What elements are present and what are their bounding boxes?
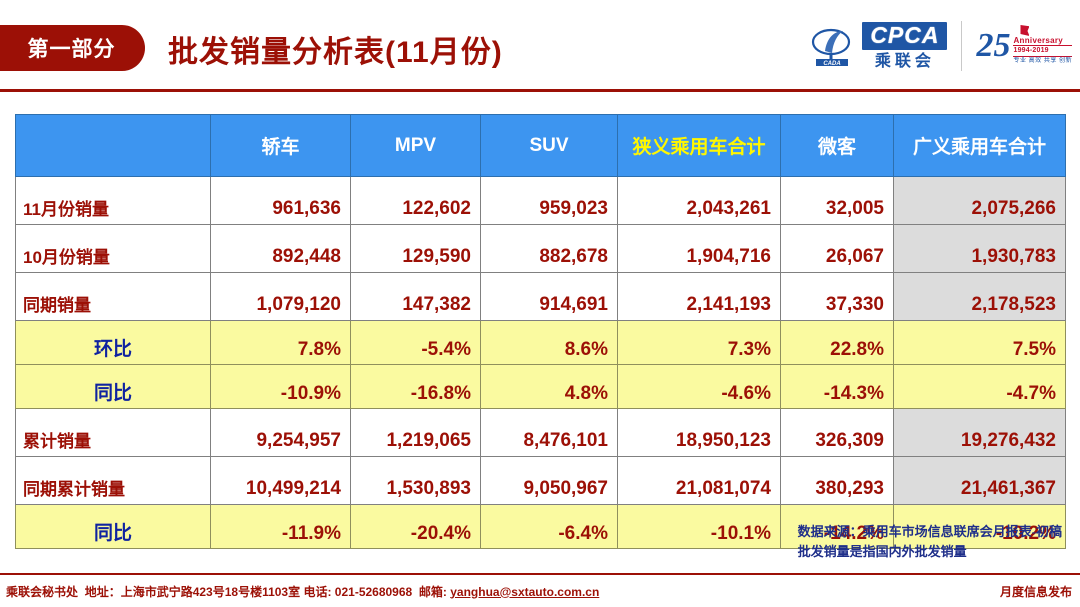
cpca-wordmark: CPCA 乘联会 [862,22,947,70]
ribbon-icon [1020,25,1029,36]
table-cell: 1,530,893 [351,457,481,505]
table-cell: 1,219,065 [351,409,481,457]
table-cell: 4.8% [481,365,618,409]
table-row: 累计销量 9,254,957 1,219,065 8,476,101 18,95… [16,409,1066,457]
table-cell: 914,691 [481,273,618,321]
table-cell: 882,678 [481,225,618,273]
source-notes: 数据来源：乘用车市场信息联席会月报表-初稿 批发销量是指国内外批发销量 [798,522,1062,562]
table-cell: 1,930,783 [894,225,1066,273]
row-label: 同期累计销量 [16,457,211,505]
table-cell: 21,081,074 [618,457,781,505]
source-note-line-2: 批发销量是指国内外批发销量 [798,542,1062,562]
table-header-cell-broad-pv-total: 广义乘用车合计 [894,115,1066,177]
table-cell: 2,075,266 [894,177,1066,225]
table-cell: 8,476,101 [481,409,618,457]
anniversary-slogan: 专业 高效 共享 创新 [1013,58,1072,65]
wholesale-sales-table: 轿车 MPV SUV 狭义乘用车合计 微客 广义乘用车合计 11月份销量 961… [15,114,1066,549]
table-cell: 19,276,432 [894,409,1066,457]
table-cell: -20.4% [351,505,481,549]
table-cell: 1,079,120 [211,273,351,321]
footer-org: 乘联会秘书处 [6,585,78,599]
footer-publication-label: 月度信息发布 [1000,583,1072,600]
section-badge: 第一部分 [0,25,145,71]
table-header-row: 轿车 MPV SUV 狭义乘用车合计 微客 广义乘用车合计 [16,115,1066,177]
table-header-cell-sedan: 轿车 [211,115,351,177]
cpca-logo: CADA CPCA 乘联会 [811,22,961,70]
table-cell: -16.8% [351,365,481,409]
table-cell: 10,499,214 [211,457,351,505]
table-cell: -6.4% [481,505,618,549]
footer-phone-label: 电话: [303,585,331,599]
table-cell: -11.9% [211,505,351,549]
table-row: 环比 7.8% -5.4% 8.6% 7.3% 22.8% 7.5% [16,321,1066,365]
table-row: 10月份销量 892,448 129,590 882,678 1,904,716… [16,225,1066,273]
table-cell: 26,067 [781,225,894,273]
table-cell: -14.3% [781,365,894,409]
table-cell: 122,602 [351,177,481,225]
table-cell: 380,293 [781,457,894,505]
table-cell: 9,050,967 [481,457,618,505]
table-body: 轿车 MPV SUV 狭义乘用车合计 微客 广义乘用车合计 11月份销量 961… [16,115,1066,549]
table-cell: -4.7% [894,365,1066,409]
table-row: 11月份销量 961,636 122,602 959,023 2,043,261… [16,177,1066,225]
table-cell: -10.9% [211,365,351,409]
svg-text:CADA: CADA [824,61,841,67]
cpca-chinese-name: 乘联会 [875,54,935,70]
footer-email-label: 邮箱: [419,585,447,599]
anniversary-number: 25 [976,27,1010,65]
table-cell: 9,254,957 [211,409,351,457]
anniversary-text-block: Anniversary 1994-2019 专业 高效 共享 创新 [1013,27,1072,65]
header-divider [0,89,1080,92]
table-cell: 7.8% [211,321,351,365]
table-cell: 7.5% [894,321,1066,365]
table-row: 同期销量 1,079,120 147,382 914,691 2,141,193… [16,273,1066,321]
slide-footer: 乘联会秘书处 地址：上海市武宁路423号18号楼1103室 电话: 021-52… [0,573,1080,607]
row-label: 同比 [16,505,211,549]
wholesale-sales-table-container: 轿车 MPV SUV 狭义乘用车合计 微客 广义乘用车合计 11月份销量 961… [15,114,1065,549]
row-label: 同比 [16,365,211,409]
table-cell: 961,636 [211,177,351,225]
slide-header: 第一部分 批发销量分析表(11月份) CADA CPCA 乘联会 25 [0,0,1080,92]
footer-address-label: 地址： [85,585,121,599]
table-cell: 892,448 [211,225,351,273]
anniversary-word: Anniversary [1013,36,1072,45]
table-cell: 2,043,261 [618,177,781,225]
table-cell: 21,461,367 [894,457,1066,505]
cpca-swoosh-icon: CADA [811,23,857,69]
footer-address: 上海市武宁路423号18号楼1103室 [121,585,300,599]
table-header-cell-suv: SUV [481,115,618,177]
table-cell: 22.8% [781,321,894,365]
table-row: 同比 -10.9% -16.8% 4.8% -4.6% -14.3% -4.7% [16,365,1066,409]
table-cell: -5.4% [351,321,481,365]
row-label: 同期销量 [16,273,211,321]
table-cell: 147,382 [351,273,481,321]
anniversary-years: 1994-2019 [1013,45,1072,57]
table-cell: 37,330 [781,273,894,321]
page-title: 批发销量分析表(11月份) [168,27,503,71]
table-cell: 18,950,123 [618,409,781,457]
cpca-english-name: CPCA [862,22,947,50]
row-label: 11月份销量 [16,177,211,225]
table-cell: 129,590 [351,225,481,273]
table-cell: -4.6% [618,365,781,409]
table-cell: 7.3% [618,321,781,365]
table-header-cell-corner [16,115,211,177]
table-header-cell-mpv: MPV [351,115,481,177]
table-cell: 959,023 [481,177,618,225]
table-cell: 326,309 [781,409,894,457]
footer-contact-info: 乘联会秘书处 地址：上海市武宁路423号18号楼1103室 电话: 021-52… [6,583,599,600]
row-label: 环比 [16,321,211,365]
table-header-cell-minivan: 微客 [781,115,894,177]
table-cell: 32,005 [781,177,894,225]
footer-email-link[interactable]: yanghua@sxtauto.com.cn [450,585,599,599]
logo-area: CADA CPCA 乘联会 25 Anniversary 1994-2019 专… [811,14,1072,78]
footer-phone: 021-52680968 [335,585,412,599]
table-cell: -10.1% [618,505,781,549]
table-row: 同期累计销量 10,499,214 1,530,893 9,050,967 21… [16,457,1066,505]
anniversary-logo: 25 Anniversary 1994-2019 专业 高效 共享 创新 [962,27,1072,65]
table-header-cell-narrow-pv-total: 狭义乘用车合计 [618,115,781,177]
source-note-line-1: 数据来源：乘用车市场信息联席会月报表-初稿 [798,522,1062,542]
table-cell: 1,904,716 [618,225,781,273]
section-badge-label: 第一部分 [28,33,116,63]
table-cell: 2,141,193 [618,273,781,321]
row-label: 10月份销量 [16,225,211,273]
row-label: 累计销量 [16,409,211,457]
table-cell: 2,178,523 [894,273,1066,321]
table-cell: 8.6% [481,321,618,365]
